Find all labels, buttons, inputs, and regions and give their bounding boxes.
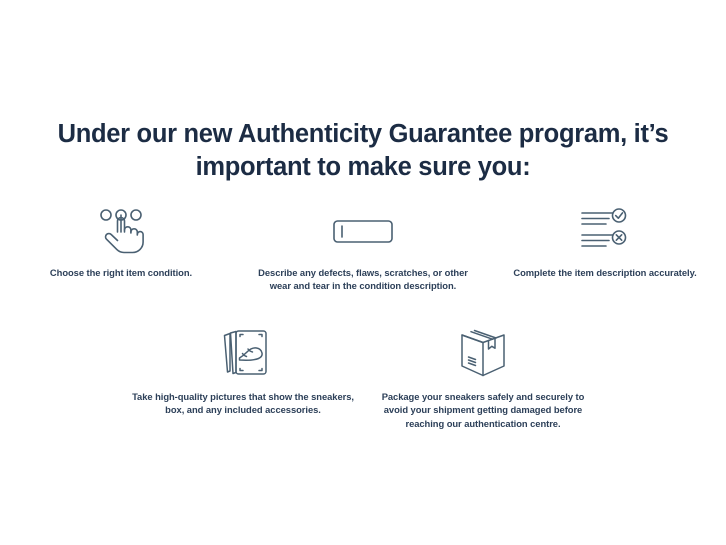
hand-pointing-radio-options-icon — [95, 205, 147, 257]
steps-row-top: Choose the right item condition. Describ… — [0, 205, 726, 293]
text-input-field-icon — [332, 205, 394, 257]
authenticity-guarantee-slide: Under our new Authenticity Guarantee pro… — [0, 0, 726, 545]
step-caption: Choose the right item condition. — [15, 266, 227, 279]
step-choose-condition: Choose the right item condition. — [0, 205, 242, 279]
step-caption: Package your sneakers safely and securel… — [369, 390, 597, 430]
sneaker-photos-stack-icon — [215, 325, 271, 381]
step-caption: Take high-quality pictures that show the… — [129, 390, 357, 417]
step-caption: Describe any defects, flaws, scratches, … — [254, 266, 472, 293]
checklist-check-cross-icon — [579, 205, 631, 257]
steps-row-bottom: Take high-quality pictures that show the… — [0, 325, 726, 430]
step-complete-description: Complete the item description accurately… — [484, 205, 726, 279]
step-take-pictures: Take high-quality pictures that show the… — [123, 325, 363, 417]
step-describe-defects: Describe any defects, flaws, scratches, … — [242, 205, 484, 293]
page-title: Under our new Authenticity Guarantee pro… — [33, 118, 693, 184]
shipping-box-icon — [457, 325, 509, 381]
step-caption: Complete the item description accurately… — [499, 266, 711, 279]
step-package-safely: Package your sneakers safely and securel… — [363, 325, 603, 430]
